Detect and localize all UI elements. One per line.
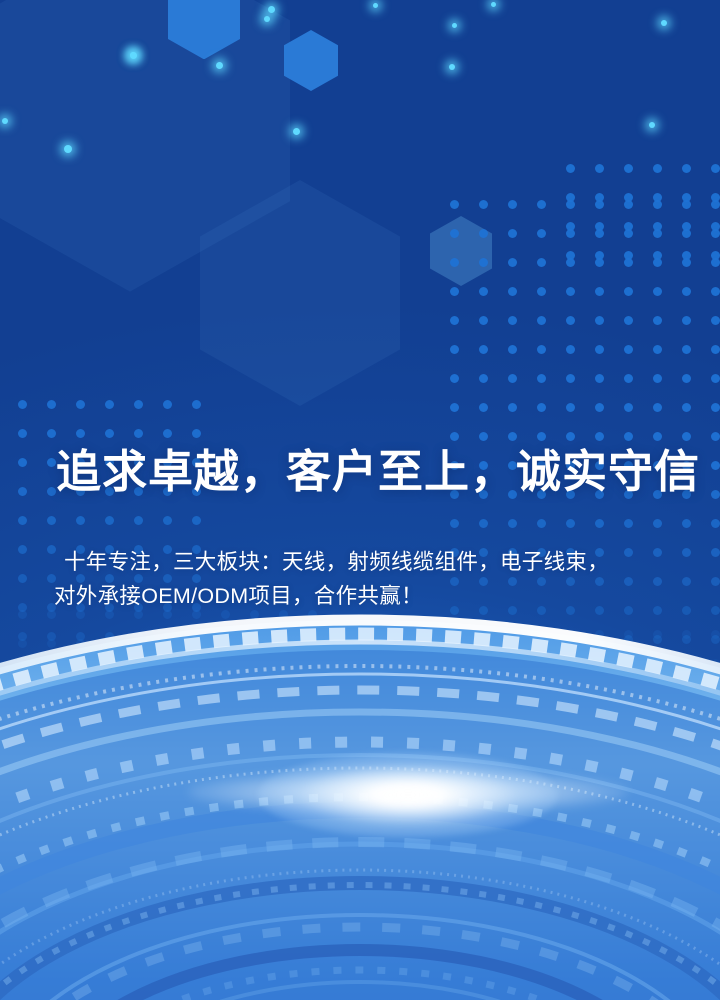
- banner-subtitle: 十年专注，三大板块：天线，射频线缆组件，电子线束， 对外承接OEM/ODM项目，…: [54, 545, 694, 613]
- hero-banner: 追求卓越，客户至上，诚实守信 十年专注，三大板块：天线，射频线缆组件，电子线束，…: [0, 0, 720, 1000]
- speck-13: [452, 23, 457, 28]
- speck-14: [131, 53, 136, 58]
- banner-subtitle-line-1: 十年专注，三大板块：天线，射频线缆组件，电子线束，: [54, 545, 694, 579]
- speck-11: [293, 128, 300, 135]
- speck-1: [268, 6, 275, 13]
- speck-7: [449, 64, 455, 70]
- tech-ring-svg: [0, 590, 720, 1000]
- speck-12: [649, 122, 655, 128]
- banner-headline: 追求卓越，客户至上，诚实守信: [56, 446, 676, 498]
- tech-ring-graphic: [0, 590, 720, 1000]
- speck-6: [216, 62, 223, 69]
- speck-10: [64, 145, 72, 153]
- speck-15: [373, 3, 378, 8]
- speck-9: [2, 118, 8, 124]
- speck-8: [661, 20, 667, 26]
- speck-2: [264, 16, 270, 22]
- speck-4: [491, 2, 496, 7]
- banner-subtitle-line-2: 对外承接OEM/ODM项目，合作共赢！: [54, 579, 694, 613]
